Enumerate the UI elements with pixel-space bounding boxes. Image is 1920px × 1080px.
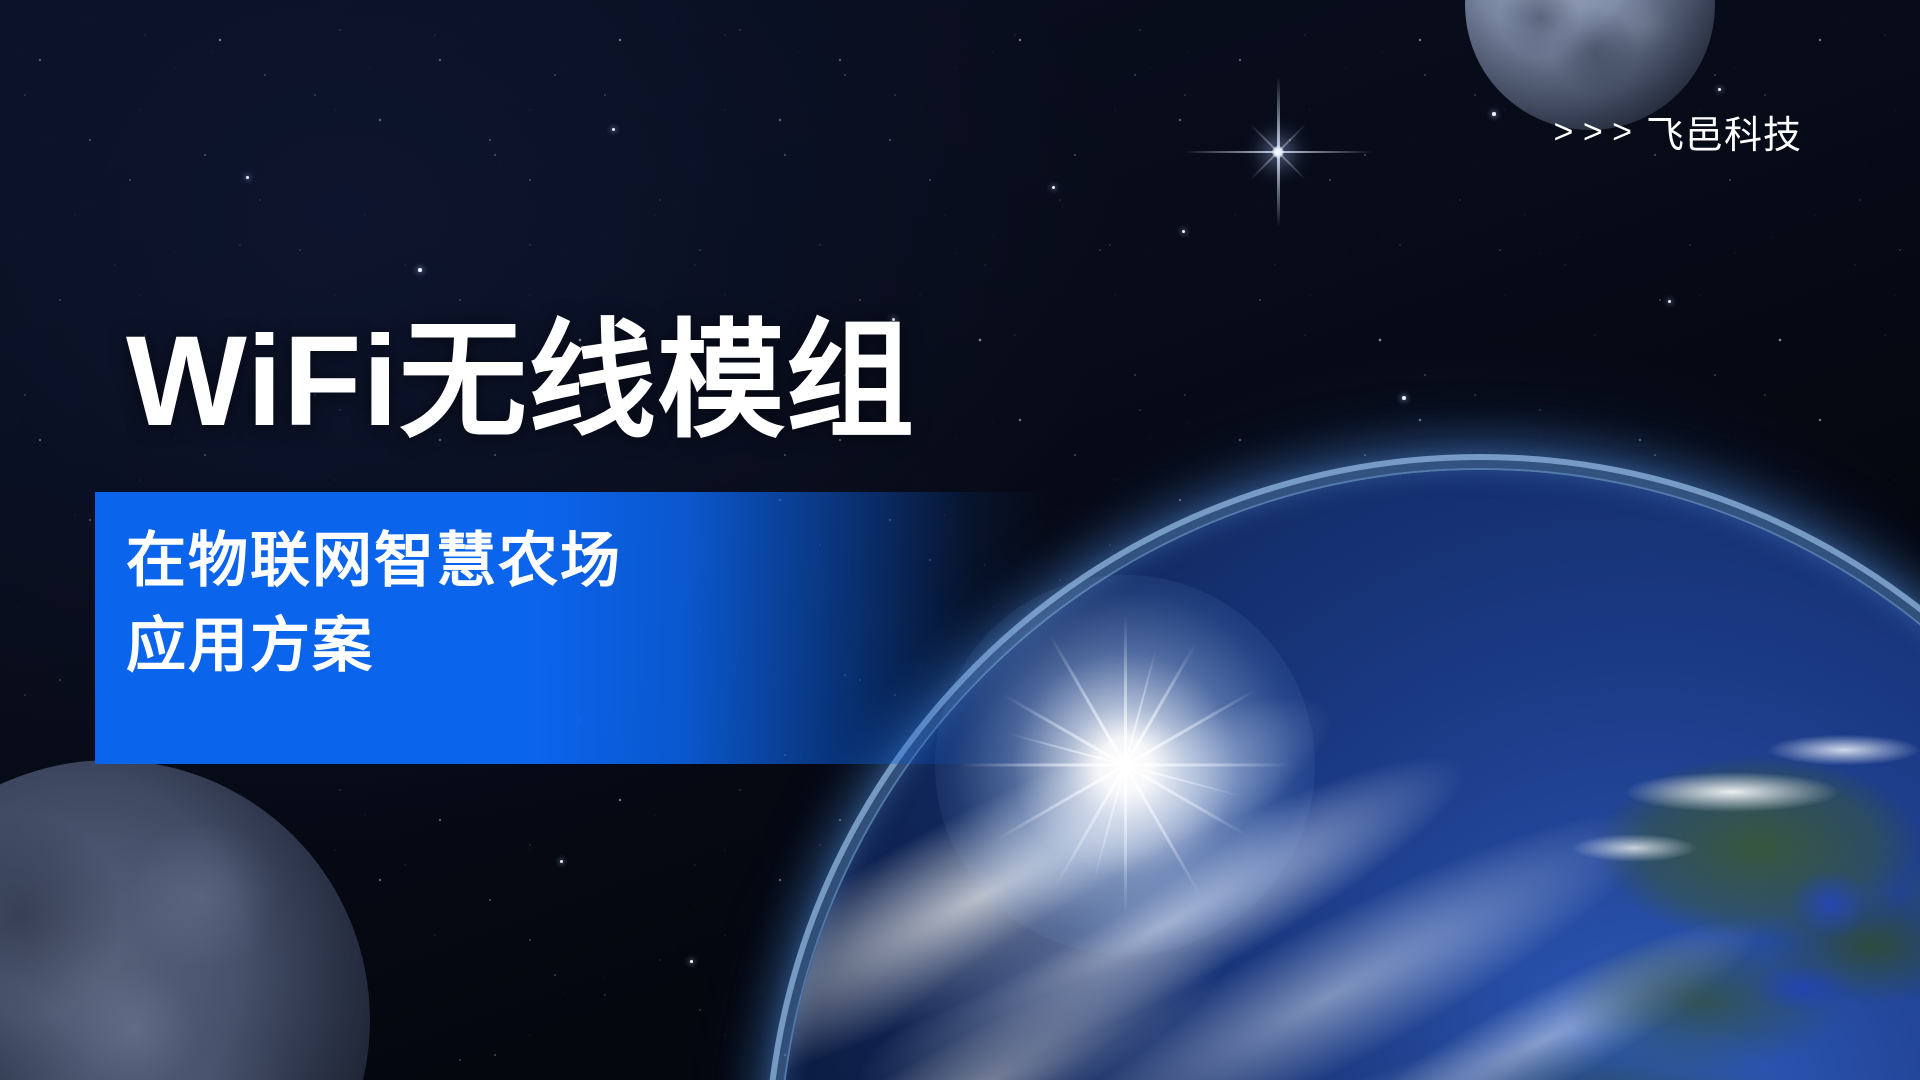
star-bright-i <box>1668 300 1671 303</box>
star-bright-d <box>1182 230 1185 233</box>
page-title: WiFi无线模组 <box>126 318 915 446</box>
logo-chevrons: > > > <box>1554 115 1632 149</box>
star-bright-h <box>1402 396 1406 400</box>
brand-logo[interactable]: > > > 飞邑科技 <box>1554 104 1802 159</box>
subtitle-line-1: 在物联网智慧农场 <box>126 518 886 603</box>
star-bright-m <box>1320 540 1323 543</box>
star-bright-k <box>1052 186 1055 189</box>
subtitle-text: 在物联网智慧农场 应用方案 <box>126 518 886 688</box>
star-bright-f <box>418 268 422 272</box>
subtitle-line-2: 应用方案 <box>126 603 886 688</box>
logo-brand-name: 飞邑科技 <box>1646 104 1802 159</box>
star-bright-b <box>1718 88 1721 91</box>
star-bright-o <box>690 960 693 963</box>
slide-canvas: > > > 飞邑科技 WiFi无线模组 在物联网智慧农场 应用方案 <box>0 0 1920 1080</box>
star-bright-j <box>246 176 249 179</box>
star-bright-e <box>612 128 615 131</box>
star-bright-n <box>560 860 563 863</box>
star-bright-c <box>1492 112 1496 116</box>
